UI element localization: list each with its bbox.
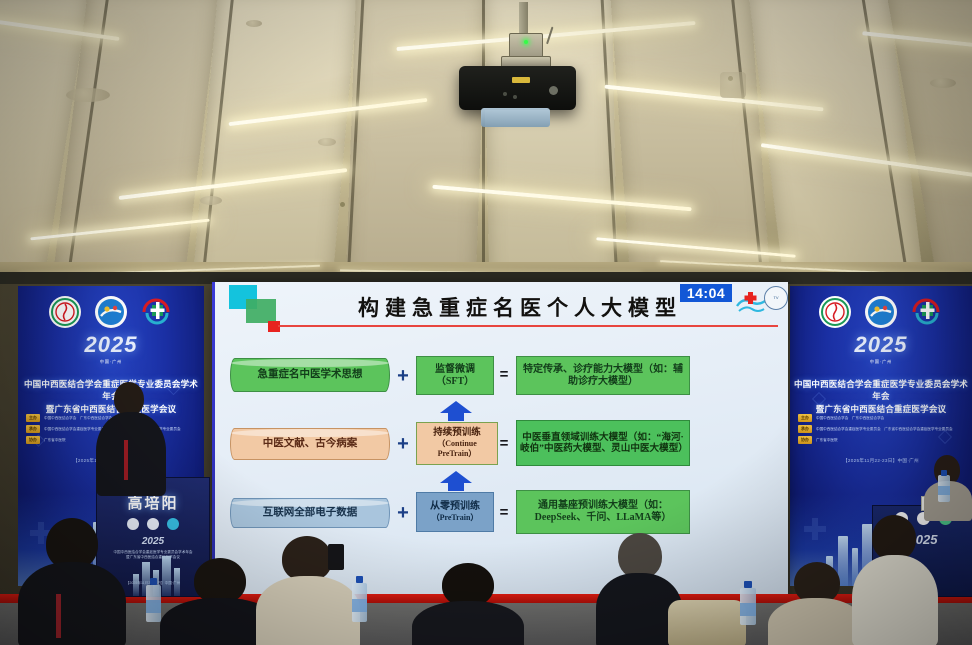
association-logo-icon <box>49 296 81 328</box>
bottle-label <box>740 603 756 616</box>
organizer-text: 广东省中医院 <box>44 438 66 442</box>
projector-indicator <box>503 92 507 96</box>
bottle-label <box>352 599 367 612</box>
banner-logo-row <box>18 296 204 328</box>
smartphone <box>328 544 344 570</box>
ceiling-vent <box>318 138 336 146</box>
bottle-cap <box>150 578 157 585</box>
banner-logo-row <box>790 296 972 328</box>
organizer-text: 广东省中医院 <box>816 438 838 442</box>
association-logo-icon <box>819 296 851 328</box>
title-underline <box>278 325 778 327</box>
water-bottle <box>938 470 950 502</box>
conference-photo-scene: 2025 中国·广州 中国中西医结合学会重症医学专业委员会学术年会 暨广东省中西… <box>0 0 972 645</box>
banner-year: 2025 中国·广州 <box>18 332 204 365</box>
audience-lanyard <box>56 594 61 638</box>
audience-body <box>768 598 864 645</box>
screen-left-accent-bar <box>212 282 215 598</box>
projector-mount-rod <box>519 2 528 36</box>
projector-body <box>459 66 576 110</box>
equals-operator-row3: = <box>497 505 511 520</box>
audience-person <box>852 515 938 645</box>
audience-person <box>412 563 524 645</box>
wall-upper-band <box>0 262 972 272</box>
speaker-person <box>96 382 166 492</box>
wall-light-strip <box>20 265 320 272</box>
diagram-output-box-row2: 中医垂直领域训练大模型（如：“海河·岐伯”中医药大模型、灵山中医大模型） <box>516 420 690 466</box>
banner-organizer-row: 协办 广东省中医院 <box>798 436 964 444</box>
banner-title: 中国中西医结合学会重症医学专业委员会学术年会 暨广东省中西医结合重症医学会议 <box>794 378 968 415</box>
diagram-output-box-row3: 通用基座预训练大模型（如：DeepSeek、千问、LLaMA等） <box>516 490 690 534</box>
water-bottle <box>740 581 756 625</box>
ceiling-vent <box>66 88 110 102</box>
ceiling-speaker <box>720 72 746 98</box>
audience-chair <box>668 600 746 645</box>
water-bottle <box>352 576 367 622</box>
wall-light-strip <box>660 260 960 272</box>
projector-knob <box>549 86 558 95</box>
banner-organizer-list: 主办 中国中西医结合学会 广东中西医结合学会 承办 中国中西医结合学会重症医学专… <box>798 414 964 447</box>
projector-lens <box>481 108 550 127</box>
bottle-label <box>938 486 950 495</box>
diagram-input-box-row2: 中医文献、古今病案 <box>230 428 390 460</box>
slide-title: 构建急重症名医个人大模型 <box>358 292 682 322</box>
cacm-logo-icon <box>147 518 159 530</box>
banner-organizer-row: 主办 中国中西医结合学会 广东中西医结合学会 <box>798 414 964 422</box>
station-seal-icon: TV <box>764 286 788 310</box>
method-label-line2: （SFT） <box>436 376 474 388</box>
audience-person <box>256 536 360 645</box>
plus-operator-row2: + <box>394 434 412 454</box>
banner-title-line1: 中国中西医结合学会重症医学专业委员会学术年会 <box>794 378 968 403</box>
diagram-method-box-row2: 持续预训练 （Continue PreTrain） <box>416 422 498 465</box>
audience-body <box>18 562 126 645</box>
organizer-tag: 主办 <box>798 414 812 422</box>
audience-person <box>18 518 126 645</box>
ceiling-vent <box>200 196 222 205</box>
diagram-output-box-row1: 特定传承、诊疗能力大模型（如：辅助诊疗大模型） <box>516 356 690 395</box>
hospital-logo-icon <box>167 518 179 530</box>
method-label-line1: 持续预训练 <box>433 428 481 440</box>
method-label-line2: （Continue PreTrain） <box>419 439 495 459</box>
speaker-lanyard <box>124 440 128 480</box>
banner-organizer-row: 承办 中国中西医结合学会重症医学专业委员会 广东省中西医结合学会重症医学专业委员… <box>798 425 964 433</box>
audience-person <box>768 562 864 645</box>
method-label-line2: （PreTrain） <box>432 513 479 523</box>
hospital-logo-icon <box>911 296 943 328</box>
equals-operator-row2: = <box>497 436 511 451</box>
skyline-bar <box>133 574 139 596</box>
organizer-tag: 主办 <box>26 414 40 422</box>
cacm-logo-icon <box>95 296 127 328</box>
banner-year: 2025 中国·广州 <box>790 332 972 365</box>
equals-operator-row1: = <box>497 367 511 382</box>
ceiling-vent <box>246 20 262 27</box>
bottle-cap <box>941 470 947 476</box>
method-label-line1: 监督微调 <box>435 364 475 376</box>
bottle-label <box>146 600 161 613</box>
bottle-cap <box>356 576 363 583</box>
organizer-text: 中国中西医结合学会 广东中西医结合学会 <box>816 416 884 420</box>
ceiling-vent <box>930 78 956 88</box>
diagram-method-box-row1: 监督微调 （SFT） <box>416 356 494 395</box>
wall-light-strip <box>340 269 640 272</box>
bottle-cap <box>744 581 752 588</box>
organizer-tag: 承办 <box>26 425 40 433</box>
water-bottle <box>146 578 161 622</box>
diagram-method-box-row3: 从零预训练 （PreTrain） <box>416 492 494 532</box>
tv-channel-logo-icon <box>734 290 768 314</box>
organizer-tag: 协办 <box>26 436 40 444</box>
ceiling <box>0 0 972 272</box>
association-logo-icon <box>127 518 139 530</box>
sprinkler <box>340 202 345 207</box>
decor-square-green <box>246 299 276 323</box>
projector-label <box>512 77 530 83</box>
audience-body <box>412 601 524 645</box>
projector-power-led <box>524 40 528 44</box>
plus-operator-row3: + <box>394 503 412 523</box>
projector-indicator <box>513 95 517 99</box>
clock-badge: 14:04 <box>680 284 732 302</box>
speaker-body <box>96 412 166 496</box>
organizer-tag: 协办 <box>798 436 812 444</box>
hospital-logo-icon <box>141 296 173 328</box>
audience-body <box>852 555 938 645</box>
audience-body <box>256 576 360 645</box>
method-label-line1: 从零预训练 <box>430 501 480 513</box>
diagram-input-box-row3: 互联网全部电子数据 <box>230 498 390 528</box>
plus-operator-row1: + <box>394 366 412 386</box>
cacm-logo-icon <box>865 296 897 328</box>
diagram-input-box-row1: 急重症名中医学术思想 <box>230 358 390 392</box>
organizer-text: 中国中西医结合学会重症医学专业委员会 广东省中西医结合学会重症医学专业委员会 <box>816 427 953 431</box>
organizer-tag: 承办 <box>798 425 812 433</box>
speaker-head <box>114 382 144 416</box>
